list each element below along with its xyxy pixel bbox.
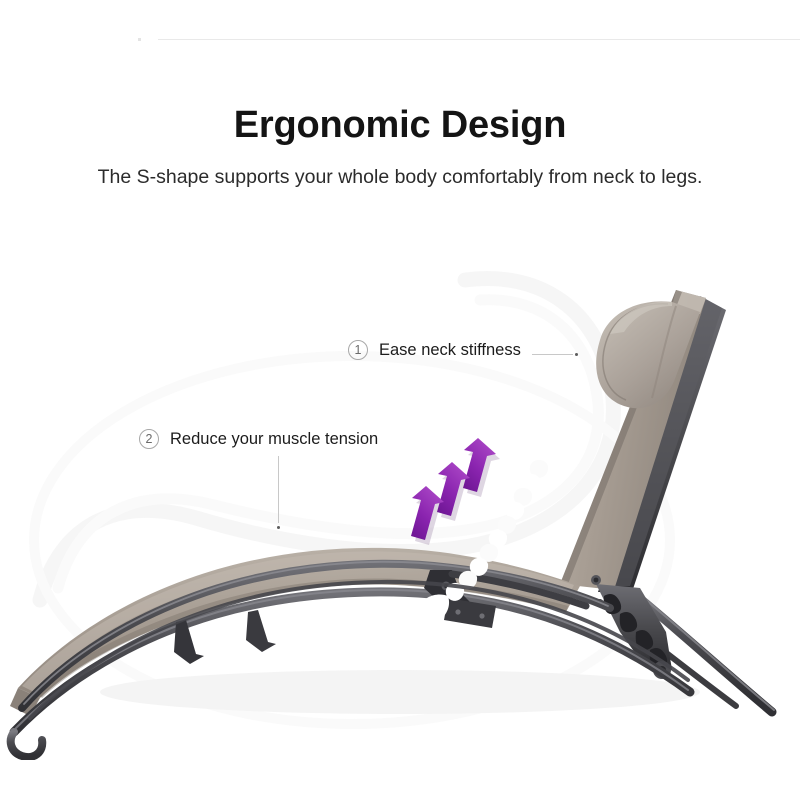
- leader-dot-2: [277, 526, 280, 529]
- page-title: Ergonomic Design: [0, 103, 800, 147]
- callout-label-1: Ease neck stiffness: [379, 340, 521, 360]
- product-feature-panel: Ergonomic Design The S-shape supports yo…: [0, 0, 800, 800]
- mid-support-bracket: [246, 610, 276, 652]
- leader-line-2: [278, 456, 279, 523]
- callout-number-2: 2: [139, 429, 159, 449]
- callout-number-1: 1: [348, 340, 368, 360]
- top-divider-rule: [158, 39, 800, 40]
- product-illustration: [0, 240, 800, 760]
- frame-foot-curl: [11, 732, 43, 757]
- callout-reduce-muscle-tension[interactable]: 2 Reduce your muscle tension: [139, 429, 378, 449]
- leader-line-1: [532, 354, 573, 355]
- top-rule-tick: [138, 38, 141, 41]
- page-subtitle: The S-shape supports your whole body com…: [0, 164, 800, 190]
- callout-label-2: Reduce your muscle tension: [170, 429, 378, 449]
- ground-shadow: [100, 670, 700, 714]
- callout-ease-neck-stiffness[interactable]: 1 Ease neck stiffness: [348, 340, 521, 360]
- leader-dot-1: [575, 353, 578, 356]
